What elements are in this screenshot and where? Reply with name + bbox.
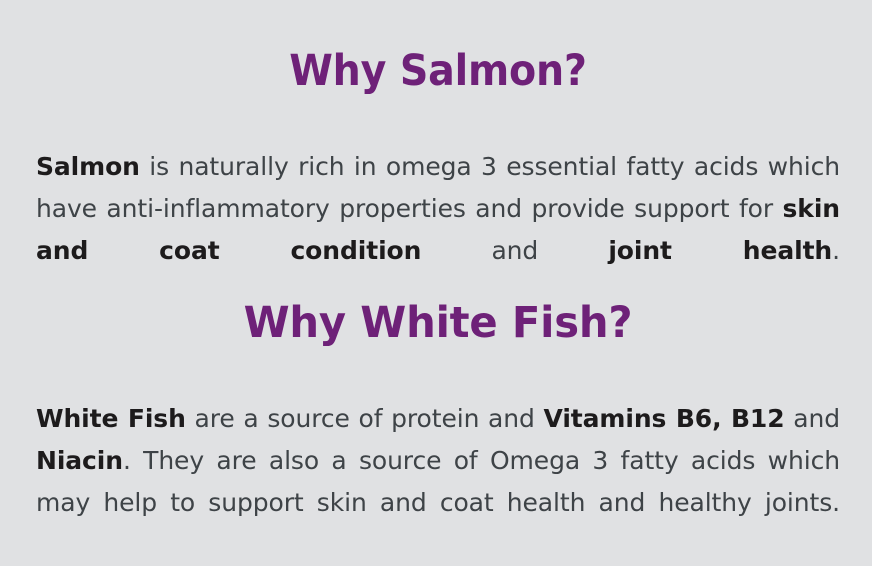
paragraph-why-salmon: Salmon is naturally rich in omega 3 esse… — [36, 146, 840, 314]
emphasis-text: Niacin — [36, 446, 123, 475]
emphasis-text: White Fish — [36, 404, 186, 433]
body-text: . They are also a source of Omega 3 fatt… — [36, 446, 840, 517]
body-text: and — [421, 236, 608, 265]
body-text: is naturally rich in omega 3 essential f… — [36, 152, 840, 223]
paragraph-why-white-fish: White Fish are a source of protein and V… — [36, 398, 840, 566]
body-text: and — [785, 404, 840, 433]
emphasis-text: joint health — [608, 236, 832, 265]
body-text: are a source of protein and — [186, 404, 544, 433]
emphasis-text: Salmon — [36, 152, 140, 181]
body-text: . — [832, 236, 840, 265]
emphasis-text: Vitamins B6, B12 — [544, 404, 785, 433]
heading-why-white-fish: Why White Fish? — [48, 302, 828, 345]
info-panel: Why Salmon? Salmon is naturally rich in … — [0, 0, 872, 564]
heading-why-salmon: Why Salmon? — [68, 50, 808, 93]
